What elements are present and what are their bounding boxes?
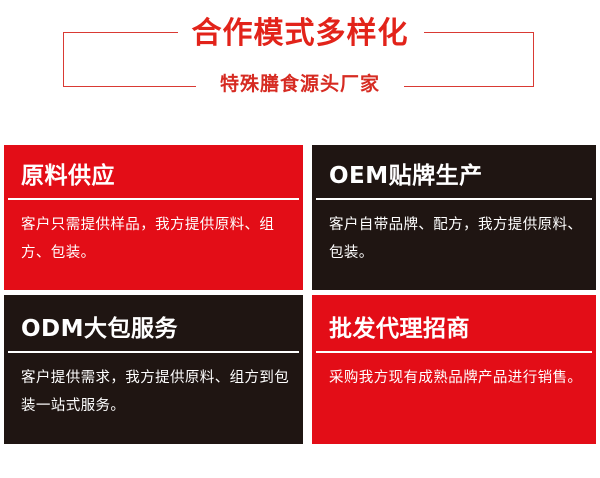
card-divider xyxy=(316,198,592,200)
cooperation-model-grid: 原料供应 客户只需提供样品，我方提供原料、组方、包装。 OEM贴牌生产 客户自带… xyxy=(4,145,596,444)
card-title: 批发代理招商 xyxy=(329,314,470,344)
page-title: 合作模式多样化 xyxy=(0,16,600,52)
card-divider xyxy=(316,351,592,353)
card-body: 客户只需提供样品，我方提供原料、组方、包装。 xyxy=(21,211,291,267)
card-body: 客户自带品牌、配方，我方提供原料、包装。 xyxy=(329,211,584,267)
page-subtitle: 特殊膳食源头厂家 xyxy=(0,72,600,96)
card-raw-material-supply[interactable]: 原料供应 客户只需提供样品，我方提供原料、组方、包装。 xyxy=(4,145,303,290)
card-oem-private-label[interactable]: OEM贴牌生产 客户自带品牌、配方，我方提供原料、包装。 xyxy=(312,145,596,290)
promo-banner-page: 合作模式多样化 特殊膳食源头厂家 原料供应 客户只需提供样品，我方提供原料、组方… xyxy=(0,0,600,478)
card-title: 原料供应 xyxy=(21,161,115,191)
card-body: 客户提供需求，我方提供原料、组方到包装一站式服务。 xyxy=(21,364,291,420)
card-body: 采购我方现有成熟品牌产品进行销售。 xyxy=(329,364,584,392)
card-odm-full-service[interactable]: ODM大包服务 客户提供需求，我方提供原料、组方到包装一站式服务。 xyxy=(4,295,303,444)
card-title: OEM贴牌生产 xyxy=(329,161,483,191)
banner-header: 合作模式多样化 特殊膳食源头厂家 xyxy=(0,0,600,128)
card-divider xyxy=(8,351,299,353)
card-title: ODM大包服务 xyxy=(21,314,178,344)
card-wholesale-agency[interactable]: 批发代理招商 采购我方现有成熟品牌产品进行销售。 xyxy=(312,295,596,444)
card-divider xyxy=(8,198,299,200)
